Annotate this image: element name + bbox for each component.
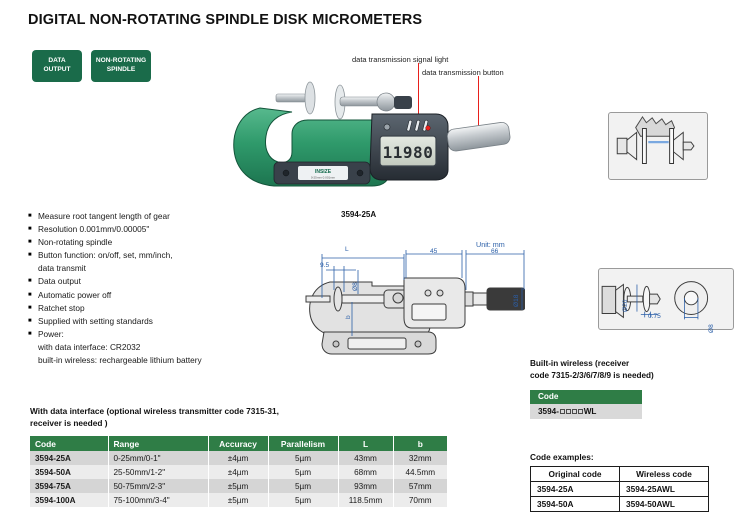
cell-accuracy: ±4µm: [208, 451, 268, 465]
dimension-label-66: 66: [491, 248, 498, 255]
list-item: ■ Resolution 0.001mm/0.00005": [28, 223, 303, 236]
feature-text: Non-rotating spindle: [38, 236, 112, 249]
cell-b: 57mm: [393, 479, 447, 493]
cell-code: 3594-100A: [30, 493, 108, 507]
bullet-square-icon: ■: [28, 328, 38, 341]
cell-l: 68mm: [338, 465, 393, 479]
builtin-wireless-title-line-1: Built-in wireless (receiver: [530, 358, 654, 370]
table-header-row: Original code Wireless code: [531, 467, 709, 482]
badge-line-2: SPINDLE: [107, 66, 136, 75]
cell-range: 0-25mm/0-1": [108, 451, 208, 465]
builtin-wireless-header-code: Code: [530, 390, 642, 404]
cell-parallelism: 5µm: [268, 479, 338, 493]
feature-subtext: built-in wireless: rechargeable lithium …: [38, 354, 303, 367]
col-header-b: b: [393, 436, 447, 451]
code-placeholder-boxes: [559, 406, 584, 417]
cell-parallelism: 5µm: [268, 451, 338, 465]
disk-label-dia20: Ø20: [622, 300, 629, 312]
cell-accuracy: ±4µm: [208, 465, 268, 479]
col-header-parallelism: Parallelism: [268, 436, 338, 451]
disk-detail-svg: [599, 269, 733, 329]
cell-accuracy: ±5µm: [208, 479, 268, 493]
list-item: ■ Automatic power off: [28, 289, 303, 302]
bullet-square-icon: ■: [28, 210, 38, 223]
table-row: 3594-25A 0-25mm/0-1" ±4µm 5µm 43mm 32mm: [30, 451, 447, 465]
feature-text: Power:: [38, 328, 64, 341]
bullet-square-icon: ■: [28, 315, 38, 328]
dimension-label-dia18: Ø18: [513, 295, 520, 307]
list-item: ■ Data output: [28, 275, 303, 288]
disk-detail-illustration: [598, 268, 734, 330]
spec-table-title: With data interface (optional wireless t…: [30, 406, 279, 430]
cell-code: 3594-75A: [30, 479, 108, 493]
list-item: ■ Non-rotating spindle: [28, 236, 303, 249]
bullet-square-icon: ■: [28, 223, 38, 236]
table-header-row: Code Range Accuracy Parallelism L b: [30, 436, 447, 451]
list-item: ■ Measure root tangent length of gear: [28, 210, 303, 223]
bullet-square-icon: ■: [28, 302, 38, 315]
disk-label-dia8: Ø8: [708, 324, 715, 333]
cell-range: 50-75mm/2-3": [108, 479, 208, 493]
badge-line-1: DATA: [48, 57, 65, 66]
col-header-accuracy: Accuracy: [208, 436, 268, 451]
spec-table-title-line-2: receiver is needed ): [30, 418, 279, 430]
product-photo: 11980 INSIZE 0-25mm 0.001mm: [222, 78, 512, 206]
list-item: ■ Ratchet stop: [28, 302, 303, 315]
cell-accuracy: ±5µm: [208, 493, 268, 507]
cell-code: 3594-50A: [30, 465, 108, 479]
bullet-square-icon: ■: [28, 289, 38, 302]
catalog-page: DIGITAL NON-ROTATING SPINDLE DISK MICROM…: [0, 0, 747, 514]
cell-original-code: 3594-25A: [531, 482, 620, 497]
code-suffix: WL: [584, 406, 597, 417]
col-header-l: L: [338, 436, 393, 451]
builtin-wireless-title-line-2: code 7315-2/3/6/7/8/9 is needed): [530, 370, 654, 382]
bullet-square-icon: ■: [28, 236, 38, 249]
cell-range: 75-100mm/3-4": [108, 493, 208, 507]
dimension-label-45: 45: [430, 248, 437, 255]
code-examples-table: Original code Wireless code 3594-25A 359…: [530, 466, 709, 512]
micrometer-photo-svg: 11980 INSIZE 0-25mm 0.001mm: [222, 78, 512, 206]
cell-b: 70mm: [393, 493, 447, 507]
lcd-reading: 11980: [383, 143, 434, 162]
dimension-label-9.5: 9.5: [320, 262, 329, 269]
cell-code: 3594-25A: [30, 451, 108, 465]
callout-signal-light: data transmission signal light: [352, 55, 448, 64]
feature-text: Resolution 0.001mm/0.00005": [38, 223, 149, 236]
cell-l: 43mm: [338, 451, 393, 465]
builtin-wireless-table: Code 3594- WL: [530, 390, 642, 419]
builtin-wireless-code-cell: 3594- WL: [530, 404, 642, 419]
table-row: 3594-25A 3594-25AWL: [531, 482, 709, 497]
cell-l: 93mm: [338, 479, 393, 493]
col-header-range: Range: [108, 436, 208, 451]
specification-table: Code Range Accuracy Parallelism L b 3594…: [30, 436, 447, 507]
photo-caption: 3594-25A: [341, 210, 376, 219]
code-prefix: 3594-: [538, 406, 559, 417]
svg-text:0-25mm 0.001mm: 0-25mm 0.001mm: [311, 176, 336, 180]
feature-text: Button function: on/off, set, mm/inch,: [38, 249, 173, 262]
list-item: ■ Supplied with setting standards: [28, 315, 303, 328]
feature-text: Data output: [38, 275, 81, 288]
dimension-label-b: b: [345, 315, 352, 319]
table-row: 3594-100A 75-100mm/3-4" ±5µm 5µm 118.5mm…: [30, 493, 447, 507]
list-item: ■ Button function: on/off, set, mm/inch,: [28, 249, 303, 262]
table-row: 3594-75A 50-75mm/2-3" ±5µm 5µm 93mm 57mm: [30, 479, 447, 493]
cell-wireless-code: 3594-25AWL: [620, 482, 709, 497]
bullet-square-icon: ■: [28, 249, 38, 262]
feature-list: ■ Measure root tangent length of gear ■ …: [28, 210, 303, 367]
badge-non-rotating-spindle: NON-ROTATING SPINDLE: [91, 50, 151, 82]
feature-badges: DATA OUTPUT NON-ROTATING SPINDLE: [32, 50, 151, 82]
col-header-wireless-code: Wireless code: [620, 467, 709, 482]
spec-table-title-line-1: With data interface (optional wireless t…: [30, 406, 279, 418]
dimension-label-L: L: [345, 246, 349, 253]
feature-text: Supplied with setting standards: [38, 315, 153, 328]
cell-l: 118.5mm: [338, 493, 393, 507]
badge-line-1: NON-ROTATING: [96, 57, 146, 66]
table-row: 3594-50A 25-50mm/1-2" ±4µm 5µm 68mm 44.5…: [30, 465, 447, 479]
feature-text: Automatic power off: [38, 289, 111, 302]
brand-logo: INSIZE: [315, 169, 332, 175]
cell-original-code: 3594-50A: [531, 497, 620, 512]
callout-transmission-button: data transmission button: [422, 68, 504, 77]
feature-text: Ratchet stop: [38, 302, 85, 315]
cell-range: 25-50mm/1-2": [108, 465, 208, 479]
cell-b: 32mm: [393, 451, 447, 465]
disk-label-thickness: 0.75: [648, 313, 661, 320]
feature-subtext: with data interface: CR2032: [38, 341, 303, 354]
gear-measurement-illustration: [608, 112, 708, 180]
page-title: DIGITAL NON-ROTATING SPINDLE DISK MICROM…: [28, 12, 422, 28]
col-header-original-code: Original code: [531, 467, 620, 482]
feature-subtext: data transmit: [38, 262, 303, 275]
cell-parallelism: 5µm: [268, 493, 338, 507]
list-item: ■ Power:: [28, 328, 303, 341]
code-examples-title: Code examples:: [530, 452, 594, 462]
cell-wireless-code: 3594-50AWL: [620, 497, 709, 512]
table-row: 3594-50A 3594-50AWL: [531, 497, 709, 512]
dimension-label-dia8: Ø8: [352, 282, 359, 291]
cell-b: 44.5mm: [393, 465, 447, 479]
badge-line-2: OUTPUT: [43, 66, 70, 75]
col-header-code: Code: [30, 436, 108, 451]
cell-parallelism: 5µm: [268, 465, 338, 479]
gear-illustration-svg: [609, 113, 707, 179]
badge-data-output: DATA OUTPUT: [32, 50, 82, 82]
feature-text: Measure root tangent length of gear: [38, 210, 170, 223]
bullet-square-icon: ■: [28, 275, 38, 288]
builtin-wireless-title: Built-in wireless (receiver code 7315-2/…: [530, 358, 654, 381]
